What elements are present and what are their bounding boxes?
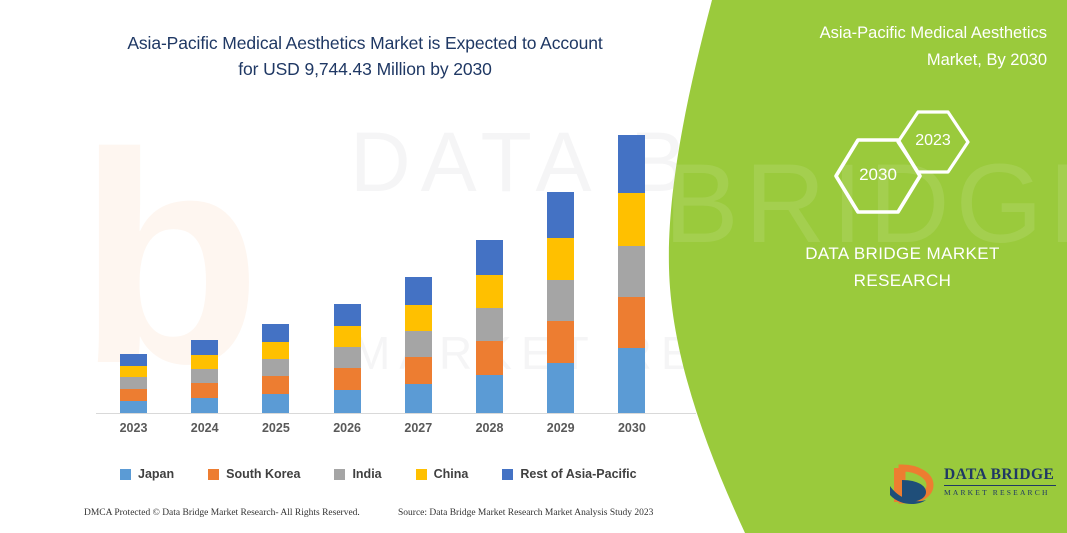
panel-brand-text: DATA BRIDGE MARKET RESEARCH [760,240,1045,294]
legend-swatch-icon [120,469,131,480]
chart-title: Asia-Pacific Medical Aesthetics Market i… [60,30,670,82]
company-logo: DATA BRIDGE MARKET RESEARCH [888,462,1060,506]
bar-segment-india-2024[interactable] [191,369,218,383]
panel-title: Asia-Pacific Medical Aesthetics Market, … [757,20,1047,74]
x-tick-2024: 2024 [175,421,235,435]
bar-segment-rest-of-asia-pacific-2029[interactable] [547,192,574,238]
legend-label: China [434,467,469,481]
bar-2030[interactable] [618,135,645,413]
legend-label: South Korea [226,467,300,481]
bar-2024[interactable] [191,340,218,413]
bar-segment-china-2024[interactable] [191,355,218,369]
legend-label: Rest of Asia-Pacific [520,467,636,481]
bar-2023[interactable] [120,354,147,413]
bar-2027[interactable] [405,277,432,413]
bar-segment-india-2023[interactable] [120,377,147,389]
legend-swatch-icon [502,469,513,480]
bar-segment-japan-2023[interactable] [120,401,147,413]
x-tick-2023: 2023 [104,421,164,435]
bar-segment-china-2025[interactable] [262,342,289,359]
bar-segment-south-korea-2024[interactable] [191,383,218,398]
bar-segment-south-korea-2027[interactable] [405,357,432,384]
bar-segment-japan-2030[interactable] [618,348,645,413]
x-tick-2030: 2030 [602,421,662,435]
bar-segment-china-2027[interactable] [405,305,432,331]
bar-segment-rest-of-asia-pacific-2030[interactable] [618,135,645,193]
bar-2026[interactable] [334,304,361,413]
hexagon-2030-label: 2030 [828,165,928,185]
legend-label: India [352,467,381,481]
bar-segment-india-2027[interactable] [405,331,432,357]
bar-segment-japan-2026[interactable] [334,390,361,413]
bar-segment-rest-of-asia-pacific-2023[interactable] [120,354,147,366]
bar-segment-rest-of-asia-pacific-2026[interactable] [334,304,361,326]
bar-segment-japan-2029[interactable] [547,363,574,413]
panel-brand-line2: RESEARCH [854,271,952,290]
footer-source: Source: Data Bridge Market Research Mark… [398,508,653,518]
bar-segment-india-2030[interactable] [618,246,645,297]
legend-item-south-korea[interactable]: South Korea [208,467,300,481]
bar-segment-rest-of-asia-pacific-2025[interactable] [262,324,289,342]
bar-segment-south-korea-2026[interactable] [334,368,361,390]
bar-segment-japan-2025[interactable] [262,394,289,413]
chart-infographic: b DATA BRIDGE MARKET RESEARCH Asia-Pacif… [0,0,1067,533]
chart-title-line2: for USD 9,744.43 Million by 2030 [238,59,492,79]
bar-segment-rest-of-asia-pacific-2027[interactable] [405,277,432,305]
footer: DMCA Protected © Data Bridge Market Rese… [0,508,700,526]
legend-swatch-icon [334,469,345,480]
logo-wordmark: DATA BRIDGE MARKET RESEARCH [944,466,1060,497]
panel-brand-line1: DATA BRIDGE MARKET [805,244,1000,263]
chart-title-line1: Asia-Pacific Medical Aesthetics Market i… [127,33,602,53]
legend-swatch-icon [416,469,427,480]
bar-segment-japan-2027[interactable] [405,384,432,413]
legend-item-rest-of-asia-pacific[interactable]: Rest of Asia-Pacific [502,467,636,481]
legend-item-india[interactable]: India [334,467,381,481]
bar-segment-china-2026[interactable] [334,326,361,347]
bar-segment-japan-2028[interactable] [476,375,503,413]
bar-2029[interactable] [547,192,574,413]
panel-title-line2: Market, By 2030 [927,51,1047,69]
legend-swatch-icon [208,469,219,480]
logo-mark-icon [888,462,938,506]
legend-item-china[interactable]: China [416,467,469,481]
logo-divider [944,485,1056,486]
logo-name: DATA BRIDGE [944,466,1060,483]
hexagon-2023-label: 2023 [887,132,979,150]
bar-segment-india-2025[interactable] [262,359,289,376]
bar-segment-india-2028[interactable] [476,308,503,341]
bar-2025[interactable] [262,324,289,413]
bar-segment-india-2026[interactable] [334,347,361,368]
x-axis-labels: 20232024202520262027202820292030 [96,421,696,441]
x-tick-2027: 2027 [388,421,448,435]
legend-label: Japan [138,467,174,481]
bar-segment-china-2029[interactable] [547,238,574,280]
legend-item-japan[interactable]: Japan [120,467,174,481]
bar-segment-rest-of-asia-pacific-2028[interactable] [476,240,503,275]
x-tick-2028: 2028 [460,421,520,435]
plot-area [96,100,696,414]
bar-2028[interactable] [476,240,503,413]
bar-segment-rest-of-asia-pacific-2024[interactable] [191,340,218,355]
bar-segment-china-2028[interactable] [476,275,503,308]
bar-segment-south-korea-2030[interactable] [618,297,645,348]
footer-copyright: DMCA Protected © Data Bridge Market Rese… [84,508,360,518]
panel-title-line1: Asia-Pacific Medical Aesthetics [820,24,1047,42]
x-tick-2029: 2029 [531,421,591,435]
chart-legend: JapanSouth KoreaIndiaChinaRest of Asia-P… [120,464,671,484]
bar-segment-india-2029[interactable] [547,280,574,321]
bar-segment-japan-2024[interactable] [191,398,218,413]
hexagon-group: 2030 2023 [830,100,990,215]
bar-segment-south-korea-2023[interactable] [120,389,147,401]
chart-pane: b DATA BRIDGE MARKET RESEARCH Asia-Pacif… [0,0,740,533]
x-tick-2026: 2026 [317,421,377,435]
bar-segment-south-korea-2029[interactable] [547,321,574,363]
x-tick-2025: 2025 [246,421,306,435]
bar-segment-south-korea-2025[interactable] [262,376,289,394]
bar-segment-china-2023[interactable] [120,366,147,377]
logo-subtitle: MARKET RESEARCH [944,488,1060,497]
bar-segment-china-2030[interactable] [618,193,645,246]
x-axis-line [96,413,696,414]
bar-segment-south-korea-2028[interactable] [476,341,503,375]
